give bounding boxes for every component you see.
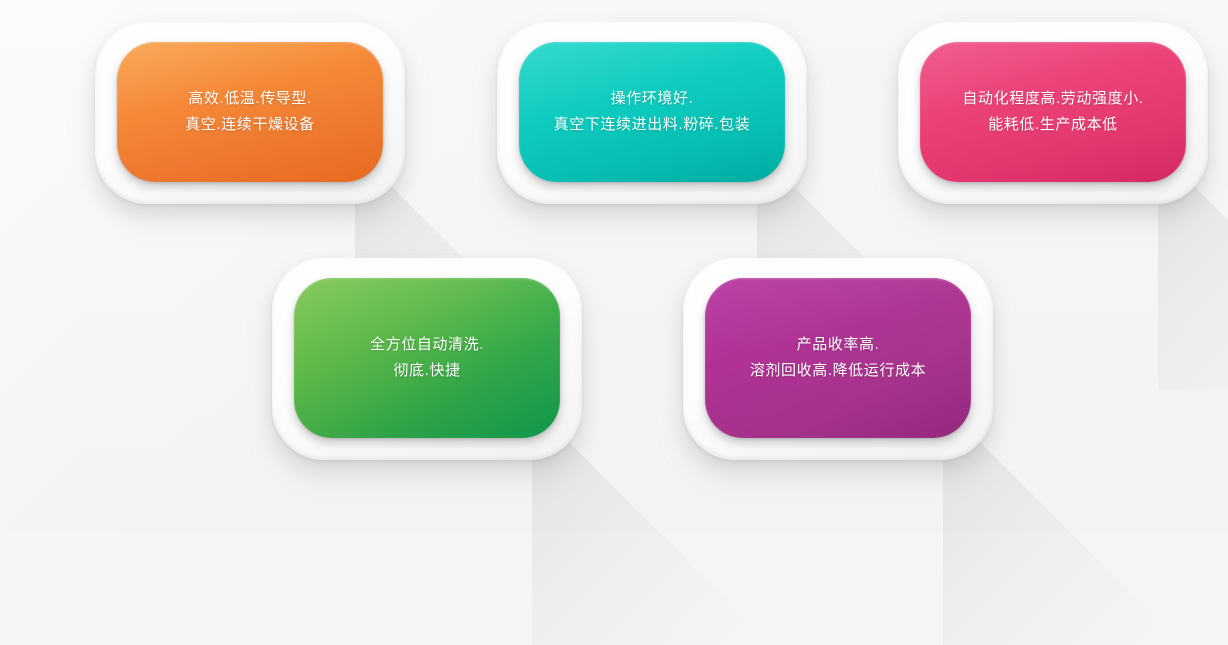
feature-card-inner-orange: 高效.低温.传导型. 真空.连续干燥设备 <box>117 42 383 182</box>
feature-card-green[interactable]: 全方位自动清洗. 彻底.快捷 <box>272 258 582 460</box>
feature-card-text: 自动化程度高.劳动强度小. 能耗低.生产成本低 <box>948 86 1157 138</box>
feature-card-purple[interactable]: 产品收率高. 溶剂回收高.降低运行成本 <box>683 258 993 460</box>
feature-card-inner-green: 全方位自动清洗. 彻底.快捷 <box>294 278 560 438</box>
feature-card-text: 操作环境好. 真空下连续进出料.粉碎.包装 <box>540 86 765 138</box>
feature-card-text: 全方位自动清洗. 彻底.快捷 <box>356 332 498 384</box>
feature-card-teal[interactable]: 操作环境好. 真空下连续进出料.粉碎.包装 <box>497 22 807 204</box>
feature-card-board: 高效.低温.传导型. 真空.连续干燥设备 操作环境好. 真空下连续进出料.粉碎.… <box>0 0 1228 531</box>
feature-card-pink[interactable]: 自动化程度高.劳动强度小. 能耗低.生产成本低 <box>898 22 1208 204</box>
feature-card-inner-purple: 产品收率高. 溶剂回收高.降低运行成本 <box>705 278 971 438</box>
feature-card-text: 产品收率高. 溶剂回收高.降低运行成本 <box>736 332 940 384</box>
feature-card-text: 高效.低温.传导型. 真空.连续干燥设备 <box>171 86 329 138</box>
feature-card-inner-teal: 操作环境好. 真空下连续进出料.粉碎.包装 <box>519 42 785 182</box>
feature-card-orange[interactable]: 高效.低温.传导型. 真空.连续干燥设备 <box>95 22 405 204</box>
feature-card-inner-pink: 自动化程度高.劳动强度小. 能耗低.生产成本低 <box>920 42 1186 182</box>
